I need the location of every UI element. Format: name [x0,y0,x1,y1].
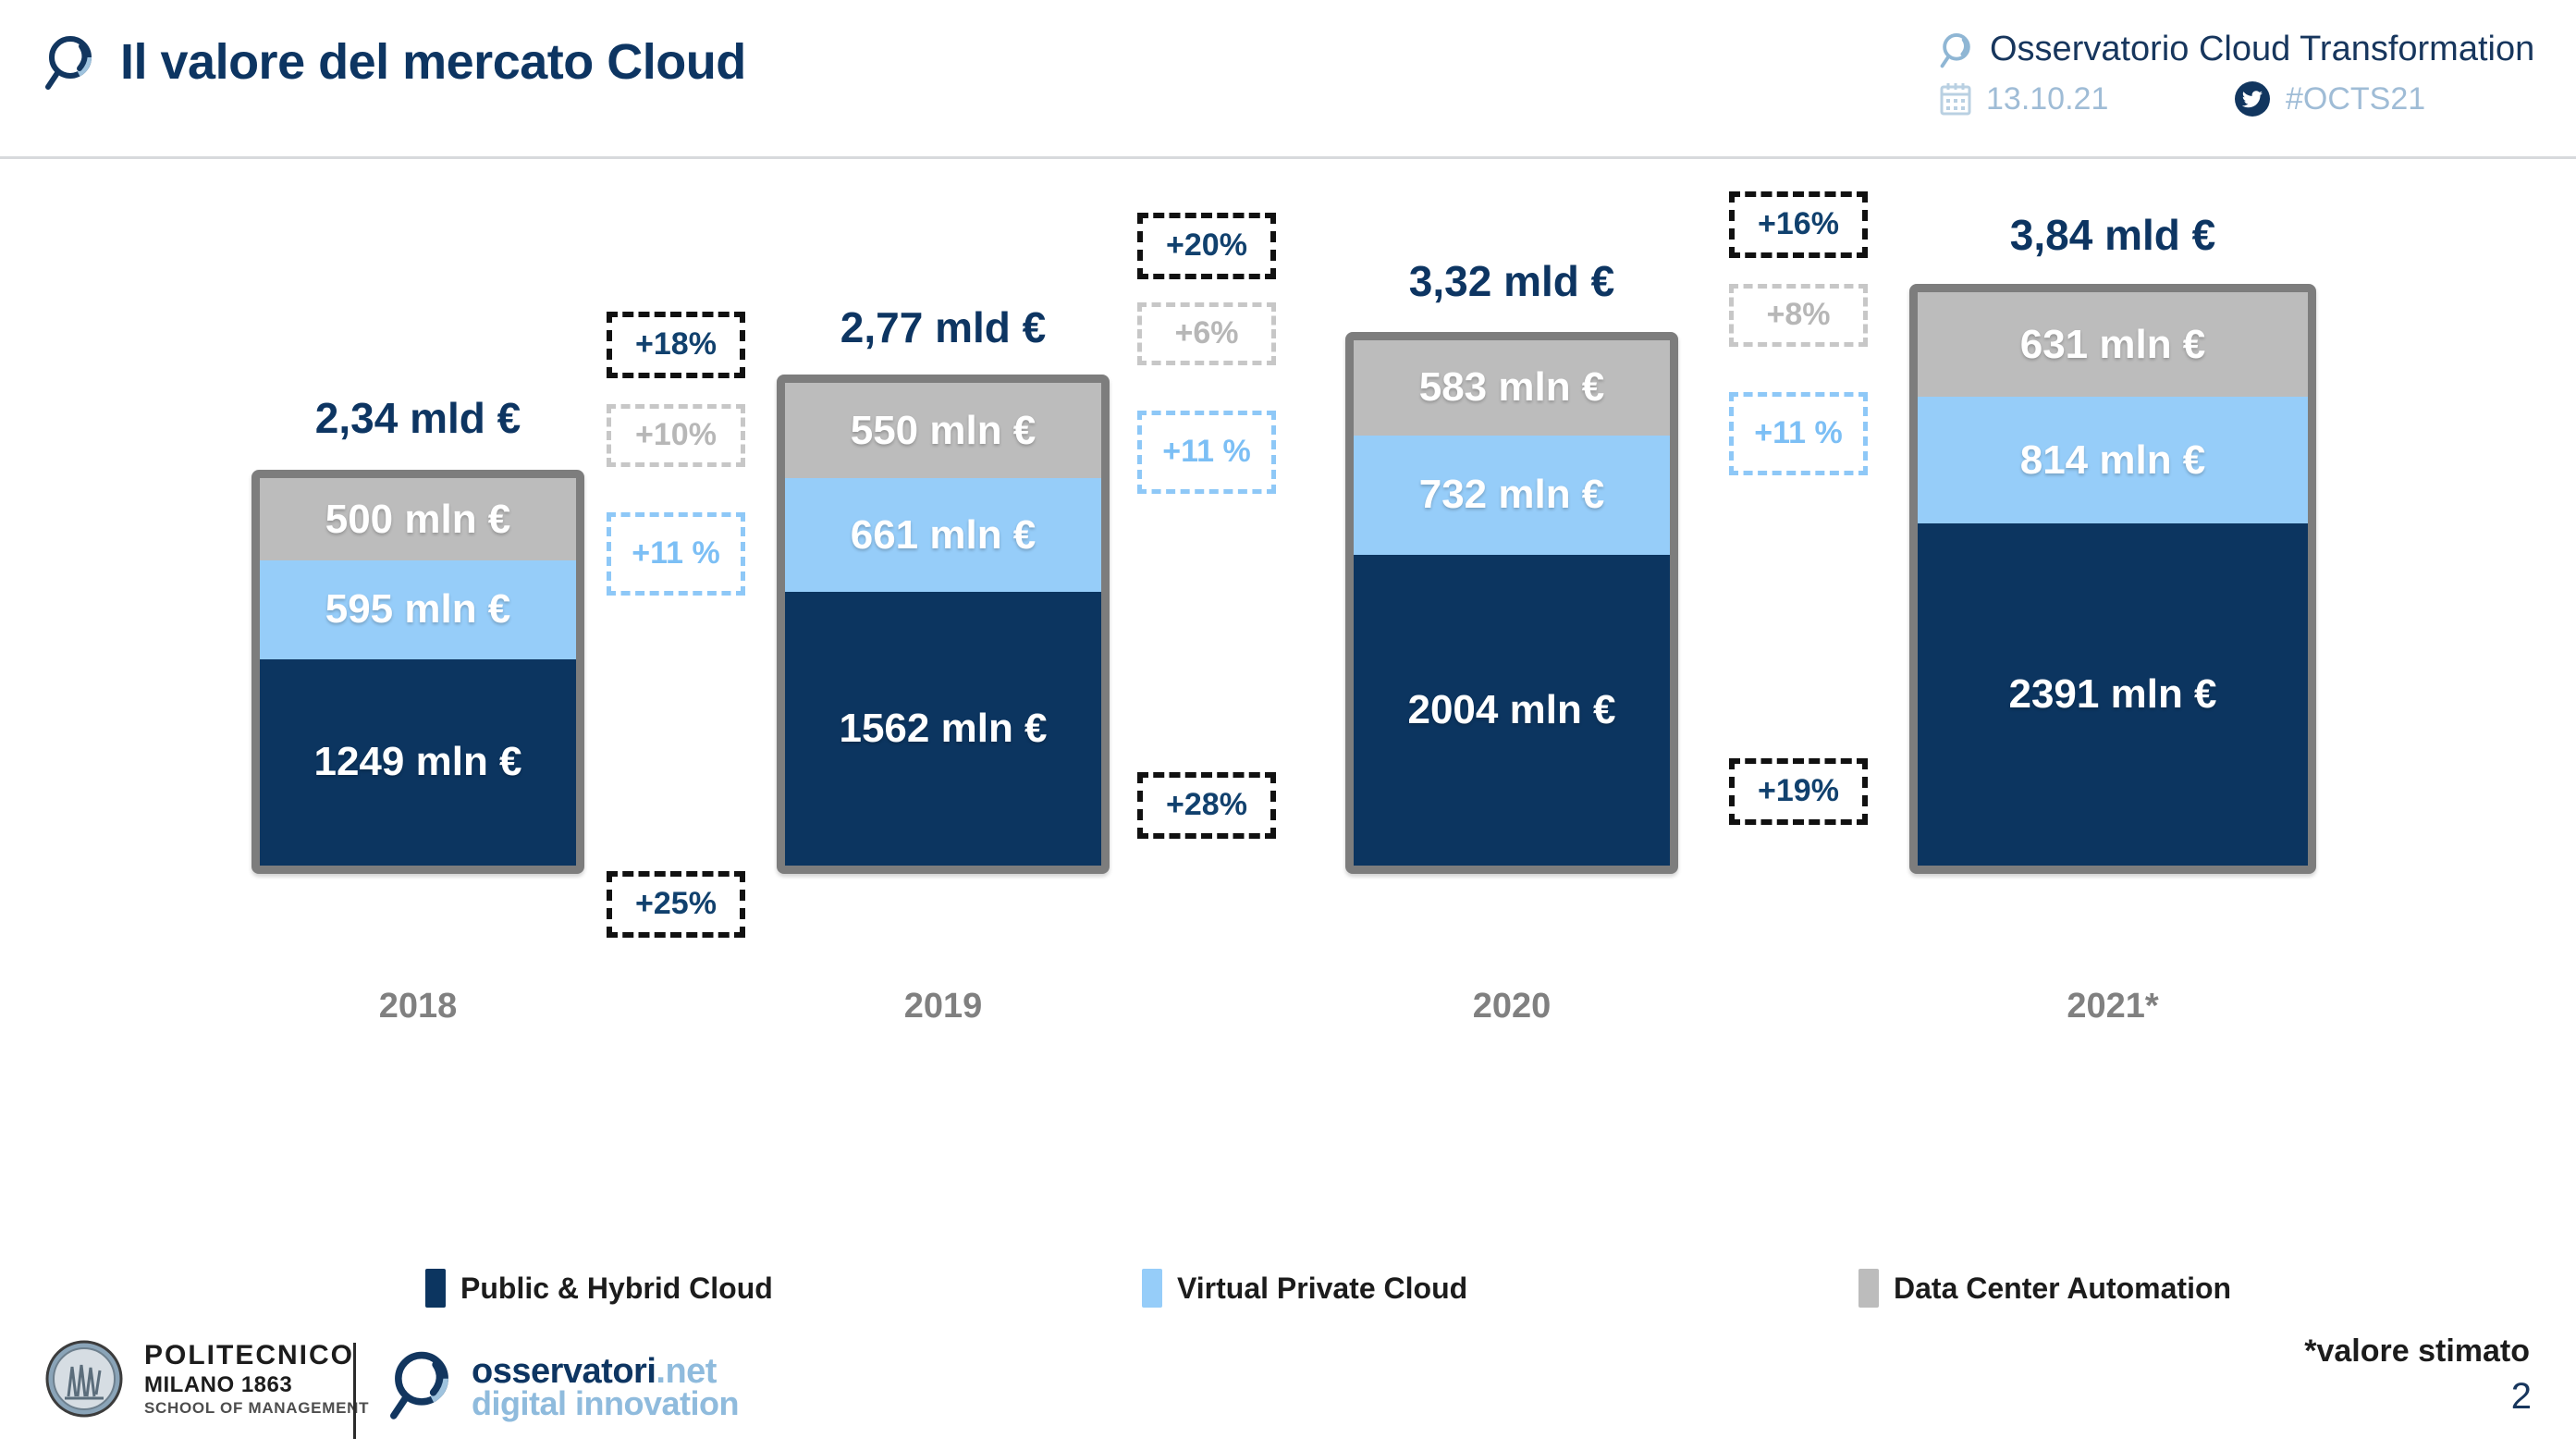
magnifier-icon-small [1940,31,1973,68]
bar-total-label: 3,32 mld € [1345,256,1678,306]
axis-label-year: 2019 [777,987,1110,1026]
growth-chip-total: +18% [607,312,745,378]
legend-swatch-navy [425,1269,446,1308]
politecnico-line-3: SCHOOL OF MANAGEMENT [144,1400,369,1417]
estimate-footnote: *valore stimato [2304,1333,2530,1370]
date-item: 13.10.21 [1940,81,2217,117]
legend-label: Public & Hybrid Cloud [460,1272,773,1306]
segment-virtual-private-cloud[interactable]: 814 mln € [1918,397,2308,523]
politecnico-line-1: POLITECNICO [144,1341,369,1370]
magnifier-icon [44,33,96,91]
bar-group-2020: 3,32 mld € 583 mln € 732 mln € 2004 mln … [1345,159,1678,1204]
bar-group-2018: 2,34 mld € 500 mln € 595 mln € 1249 mln … [251,159,584,1204]
growth-chip-total: +16% [1729,191,1868,258]
segment-virtual-private-cloud[interactable]: 661 mln € [785,478,1101,592]
magnifier-icon-footer [388,1348,455,1425]
growth-gap-2020-2021: +16% +8% +11 % +19% [1722,159,1875,1204]
segment-data-center-automation[interactable]: 583 mln € [1354,340,1670,436]
legend-item-public-hybrid-cloud[interactable]: Public & Hybrid Cloud [425,1269,773,1308]
bar-group-2019: 2,77 mld € 550 mln € 661 mln € 1562 mln … [777,159,1110,1204]
bar-total-label: 2,34 mld € [251,393,584,443]
politecnico-line-2: MILANO 1863 [144,1373,369,1396]
bar-chart: 2,34 mld € 500 mln € 595 mln € 1249 mln … [0,159,2576,1269]
legend-swatch-gray [1858,1269,1879,1308]
bar-total-label: 3,84 mld € [1909,210,2316,260]
osservatori-line-1: osservatori.net [472,1354,739,1389]
twitter-icon[interactable] [2234,80,2271,117]
footer-divider [353,1343,356,1439]
stacked-bar[interactable]: 500 mln € 595 mln € 1249 mln € [251,470,584,874]
title-block: Il valore del mercato Cloud [44,33,746,91]
growth-gap-2018-2019: +18% +10% +11 % +25% [599,159,753,1204]
segment-public-hybrid-cloud[interactable]: 1249 mln € [260,659,576,866]
osservatori-logo: osservatori.net digital innovation [388,1348,739,1425]
growth-chip-dca: +8% [1729,284,1868,347]
politecnico-logo: POLITECNICO MILANO 1863 SCHOOL OF MANAGE… [44,1339,369,1419]
segment-virtual-private-cloud[interactable]: 595 mln € [260,560,576,658]
growth-chip-phc: +28% [1137,772,1276,839]
slide-root: Il valore del mercato Cloud Osservatorio… [0,0,2576,1450]
observatory-name: Osservatorio Cloud Transformation [1990,30,2534,69]
axis-label-year: 2020 [1345,987,1678,1026]
segment-data-center-automation[interactable]: 631 mln € [1918,292,2308,397]
segment-data-center-automation[interactable]: 500 mln € [260,478,576,560]
legend-item-data-center-automation[interactable]: Data Center Automation [1858,1269,2231,1308]
axis-label-year: 2018 [251,987,584,1026]
legend-label: Virtual Private Cloud [1177,1272,1467,1306]
page-title: Il valore del mercato Cloud [120,33,746,91]
growth-chip-vpc: +11 % [1729,392,1868,475]
slide-footer: POLITECNICO MILANO 1863 SCHOOL OF MANAGE… [0,1332,2576,1450]
calendar-icon [1940,82,1971,116]
meta-row: 13.10.21 #OCTS21 [1940,80,2532,117]
growth-chip-dca: +6% [1137,302,1276,365]
stacked-bar[interactable]: 583 mln € 732 mln € 2004 mln € [1345,332,1678,874]
axis-label-year: 2021* [1909,987,2316,1026]
growth-gap-2019-2020: +20% +6% +11 % +28% [1130,159,1283,1204]
segment-public-hybrid-cloud[interactable]: 2391 mln € [1918,523,2308,866]
hashtag-item: #OCTS21 [2234,80,2425,117]
osservatori-line-2: digital innovation [472,1387,739,1420]
chart-legend: Public & Hybrid Cloud Virtual Private Cl… [0,1269,2576,1324]
growth-chip-dca: +10% [607,404,745,467]
politecnico-wordmark: POLITECNICO MILANO 1863 SCHOOL OF MANAGE… [144,1341,369,1417]
osservatori-wordmark: osservatori.net digital innovation [472,1354,739,1420]
event-date: 13.10.21 [1986,81,2108,117]
page-number: 2 [2511,1376,2532,1418]
event-hashtag: #OCTS21 [2286,81,2425,117]
legend-swatch-light-blue [1142,1269,1162,1308]
politecnico-seal-icon [44,1339,124,1419]
segment-virtual-private-cloud[interactable]: 732 mln € [1354,436,1670,555]
slide-header: Il valore del mercato Cloud Osservatorio… [0,0,2576,159]
bar-total-label: 2,77 mld € [777,302,1110,352]
header-meta: Osservatorio Cloud Transformation [1940,30,2532,117]
legend-label: Data Center Automation [1894,1272,2231,1306]
stacked-bar[interactable]: 550 mln € 661 mln € 1562 mln € [777,375,1110,874]
stacked-bar[interactable]: 631 mln € 814 mln € 2391 mln € [1909,284,2316,874]
growth-chip-vpc: +11 % [607,512,745,596]
observatory-row: Osservatorio Cloud Transformation [1940,30,2532,69]
growth-chip-phc: +25% [607,871,745,938]
growth-chip-total: +20% [1137,213,1276,279]
segment-public-hybrid-cloud[interactable]: 1562 mln € [785,592,1101,866]
legend-item-virtual-private-cloud[interactable]: Virtual Private Cloud [1142,1269,1467,1308]
growth-chip-vpc: +11 % [1137,411,1276,494]
segment-public-hybrid-cloud[interactable]: 2004 mln € [1354,555,1670,866]
segment-data-center-automation[interactable]: 550 mln € [785,383,1101,478]
bar-group-2021: 3,84 mld € 631 mln € 814 mln € 2391 mln … [1909,159,2316,1204]
growth-chip-phc: +19% [1729,758,1868,825]
